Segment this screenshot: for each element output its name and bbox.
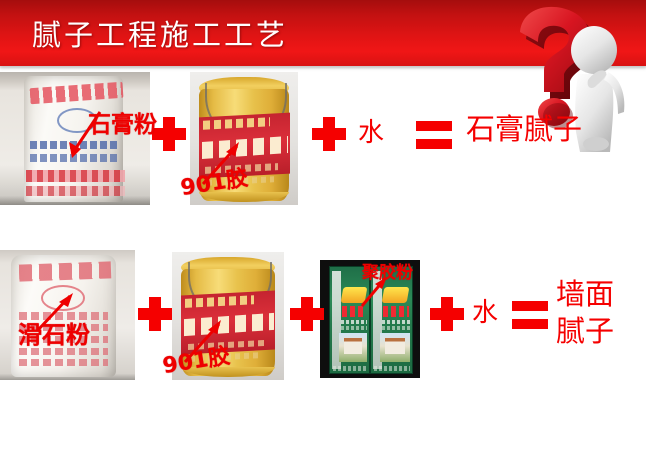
sack-print-band2 <box>26 186 125 195</box>
glue-powder-annotation: 聚胶粉 <box>362 258 413 283</box>
operator-plus-r1-2 <box>312 117 346 151</box>
plus-bar-vertical <box>149 297 161 331</box>
sack-print-title <box>19 261 111 281</box>
term-water-r2: 水 <box>472 300 498 326</box>
box-subtitle-2 <box>382 326 409 329</box>
equals-bar-top <box>512 301 548 311</box>
term-water-r1: 水 <box>358 120 384 146</box>
equals-bar-bottom <box>512 319 548 329</box>
sack-print-band1 <box>26 170 125 182</box>
result-gypsum-putty: 石膏腻子 <box>466 114 582 145</box>
plus-bar-vertical <box>163 117 175 151</box>
box-house-illustration <box>380 333 410 363</box>
result-wall-putty-line1: 墙面 <box>556 278 614 310</box>
page-title: 腻子工程施工工艺 <box>32 12 288 54</box>
slide-canvas: 腻子工程施工工艺 <box>0 0 646 450</box>
operator-plus-r2-1 <box>138 297 172 331</box>
talc-powder-annotation: 滑石粉 <box>18 315 90 350</box>
box-subtitle-1 <box>341 320 367 324</box>
operator-plus-r2-2 <box>290 297 324 331</box>
box-subtitle-2 <box>341 326 367 329</box>
equals-bar-top <box>416 121 452 131</box>
sack-print-line5 <box>19 359 108 366</box>
plus-bar-vertical <box>301 297 313 331</box>
operator-equals-r2 <box>512 300 548 330</box>
plus-bar-vertical <box>441 297 453 331</box>
operator-plus-r2-3 <box>430 297 464 331</box>
result-wall-putty-line2: 腻子 <box>556 315 614 347</box>
equals-bar-bottom <box>416 139 452 149</box>
box-subtitle-1 <box>382 320 409 324</box>
box-footer-text <box>333 366 367 371</box>
box-footer-text <box>374 366 409 371</box>
operator-plus-r1-1 <box>152 117 186 151</box>
plus-bar-vertical <box>323 117 335 151</box>
box-house-illustration <box>339 333 368 363</box>
gypsum-powder-annotation: 石膏粉 <box>88 105 157 139</box>
operator-equals-r1 <box>416 120 452 150</box>
